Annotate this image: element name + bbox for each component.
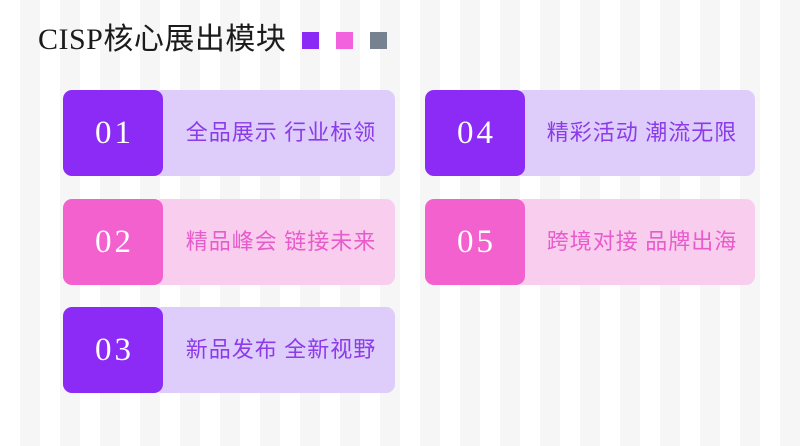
swatch-pink: [336, 32, 353, 49]
legend-swatch-group: [302, 32, 387, 49]
module-card-01[interactable]: 01全品展示 行业标领: [63, 90, 395, 176]
card-number-block: 03: [63, 307, 163, 393]
card-text-label: 精彩活动 潮流无限: [547, 120, 738, 146]
card-text-label: 全品展示 行业标领: [186, 120, 377, 146]
card-number-block: 02: [63, 199, 163, 285]
swatch-purple: [302, 32, 319, 49]
card-body: 精品峰会 链接未来: [153, 199, 395, 285]
card-number-label: 01: [92, 117, 134, 150]
card-text-label: 跨境对接 品牌出海: [547, 229, 738, 255]
swatch-gray: [370, 32, 387, 49]
module-card-05[interactable]: 05跨境对接 品牌出海: [425, 199, 755, 285]
card-number-block: 04: [425, 90, 525, 176]
card-body: 新品发布 全新视野: [153, 307, 395, 393]
card-number-label: 04: [454, 117, 496, 150]
slide-header: CISP核心展出模块: [38, 20, 387, 60]
module-card-04[interactable]: 04精彩活动 潮流无限: [425, 90, 755, 176]
module-card-03[interactable]: 03新品发布 全新视野: [63, 307, 395, 393]
card-number-label: 03: [92, 334, 134, 367]
card-number-block: 05: [425, 199, 525, 285]
card-body: 精彩活动 潮流无限: [515, 90, 755, 176]
card-text-label: 新品发布 全新视野: [186, 337, 377, 363]
module-card-02[interactable]: 02精品峰会 链接未来: [63, 199, 395, 285]
card-text-label: 精品峰会 链接未来: [186, 229, 377, 255]
card-number-label: 02: [92, 226, 134, 259]
card-number-label: 05: [454, 226, 496, 259]
card-body: 全品展示 行业标领: [153, 90, 395, 176]
page-title: CISP核心展出模块: [38, 23, 286, 57]
slide-canvas: CISP核心展出模块 01全品展示 行业标领02精品峰会 链接未来03新品发布 …: [0, 0, 800, 446]
card-body: 跨境对接 品牌出海: [515, 199, 755, 285]
card-number-block: 01: [63, 90, 163, 176]
